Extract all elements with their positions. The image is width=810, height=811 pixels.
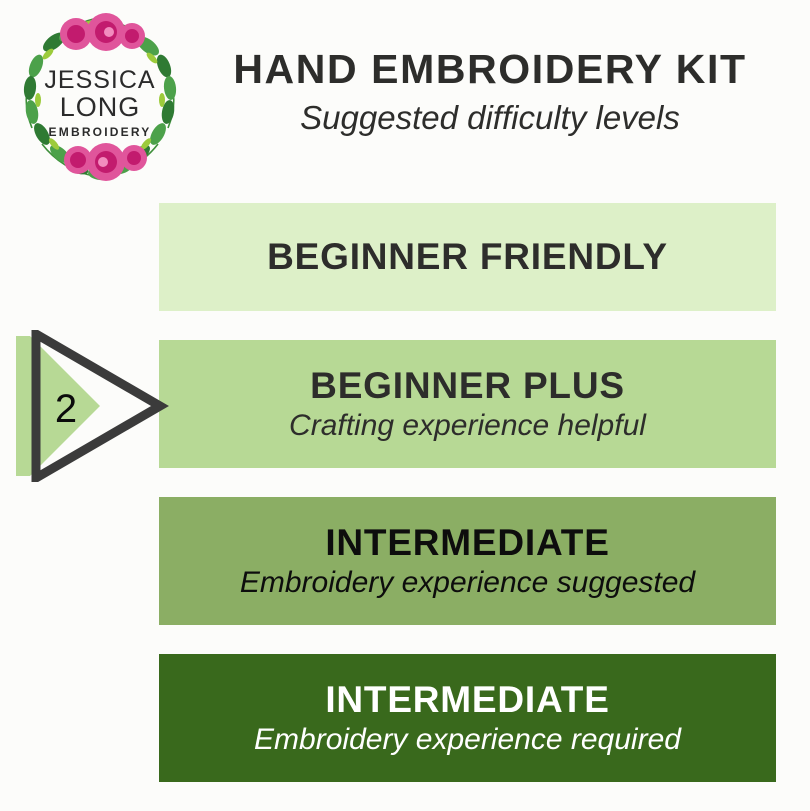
level-name: BEGINNER PLUS bbox=[310, 365, 625, 406]
logo-line-2: LONG bbox=[60, 92, 141, 122]
rose-cluster-top bbox=[60, 13, 145, 51]
level-description: Crafting experience helpful bbox=[289, 409, 646, 443]
rose-cluster-bottom bbox=[64, 143, 147, 181]
level-bar-intermediate-suggested[interactable]: INTERMEDIATE Embroidery experience sugge… bbox=[159, 497, 776, 625]
logo-line-1: JESSICA bbox=[44, 66, 155, 94]
level-name: INTERMEDIATE bbox=[325, 679, 609, 720]
level-name: INTERMEDIATE bbox=[325, 522, 609, 563]
brand-logo: JESSICA LONG EMBROIDERY bbox=[12, 8, 188, 184]
selected-level-arrow-marker: 2 bbox=[8, 330, 170, 482]
page-title: HAND EMBROIDERY KIT bbox=[190, 48, 790, 91]
level-name: BEGINNER FRIENDLY bbox=[267, 236, 668, 277]
difficulty-level-infographic: JESSICA LONG EMBROIDERY HAND EMBROIDERY … bbox=[0, 0, 810, 810]
level-description: Embroidery experience required bbox=[254, 723, 681, 757]
level-description: Embroidery experience suggested bbox=[240, 566, 695, 600]
marker-number: 2 bbox=[55, 387, 77, 431]
logo-line-3: EMBROIDERY bbox=[49, 125, 152, 139]
level-bar-beginner-friendly[interactable]: BEGINNER FRIENDLY bbox=[159, 203, 776, 311]
header: HAND EMBROIDERY KIT Suggested difficulty… bbox=[190, 48, 790, 136]
page-subtitle: Suggested difficulty levels bbox=[190, 101, 790, 136]
level-bar-intermediate-required[interactable]: INTERMEDIATE Embroidery experience requi… bbox=[159, 654, 776, 782]
difficulty-level-list: BEGINNER FRIENDLY BEGINNER PLUS Crafting… bbox=[159, 203, 776, 811]
level-bar-beginner-plus[interactable]: BEGINNER PLUS Crafting experience helpfu… bbox=[159, 340, 776, 468]
